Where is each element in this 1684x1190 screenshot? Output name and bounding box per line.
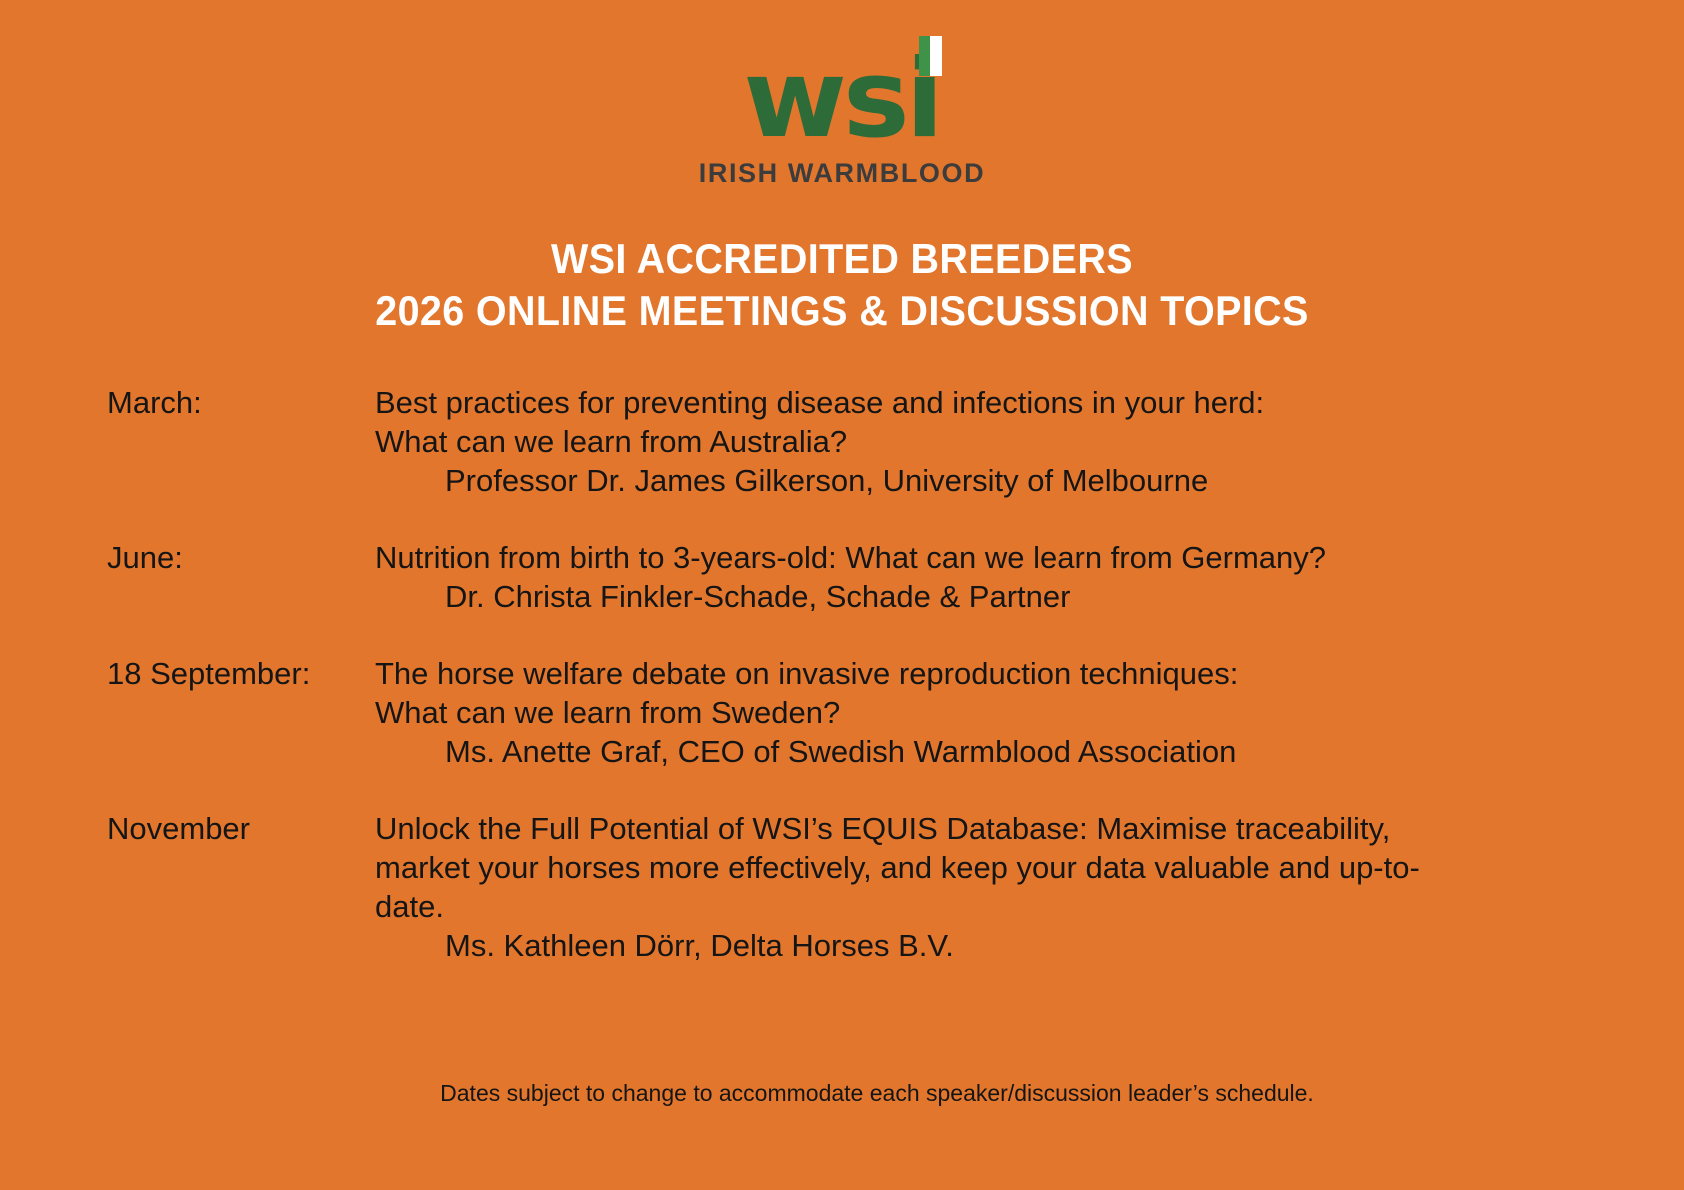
entry-topic-line: Best practices for preventing disease an… (375, 383, 1480, 422)
schedule-entry-june: June: Nutrition from birth to 3-years-ol… (107, 538, 1624, 616)
entry-speaker: Dr. Christa Finkler-Schade, Schade & Par… (375, 577, 1480, 616)
logo-subtitle: IRISH WARMBLOOD (699, 158, 986, 189)
page-title: WSI ACCREDITED BREEDERS 2026 ONLINE MEET… (51, 233, 1634, 337)
irish-tricolour-flag-icon (919, 36, 953, 76)
entry-topic-line: The horse welfare debate on invasive rep… (375, 654, 1480, 693)
entry-topic-line: What can we learn from Sweden? (375, 693, 1480, 732)
flag-stripe-green (919, 36, 930, 76)
entry-body: Unlock the Full Potential of WSI’s EQUIS… (375, 809, 1480, 965)
entry-topic-line: What can we learn from Australia? (375, 422, 1480, 461)
flag-stripe-white (930, 36, 941, 76)
entry-body: Best practices for preventing disease an… (375, 383, 1480, 500)
entry-speaker: Ms. Kathleen Dörr, Delta Horses B.V. (375, 926, 1480, 965)
entry-month-label: June: (107, 538, 375, 577)
entry-month-label: March: (107, 383, 375, 422)
entry-topic-line: Nutrition from birth to 3-years-old: Wha… (375, 538, 1480, 577)
footer-disclaimer: Dates subject to change to accommodate e… (0, 1080, 1684, 1107)
schedule-list: March: Best practices for preventing dis… (0, 383, 1684, 965)
entry-topic-line: Unlock the Full Potential of WSI’s EQUIS… (375, 809, 1480, 926)
entry-speaker: Professor Dr. James Gilkerson, Universit… (375, 461, 1480, 500)
entry-month-label: November (107, 809, 375, 848)
entry-month-label: 18 September: (107, 654, 375, 693)
entry-body: Nutrition from birth to 3-years-old: Wha… (375, 538, 1480, 616)
schedule-entry-september: 18 September: The horse welfare debate o… (107, 654, 1624, 771)
entry-speaker: Ms. Anette Graf, CEO of Swedish Warmbloo… (375, 732, 1480, 771)
page-title-line-2: 2026 ONLINE MEETINGS & DISCUSSION TOPICS (51, 285, 1634, 337)
logo-wordmark: wsi (744, 50, 941, 150)
flag-stripe-orange (942, 36, 953, 76)
page-title-line-1: WSI ACCREDITED BREEDERS (51, 233, 1634, 285)
schedule-entry-march: March: Best practices for preventing dis… (107, 383, 1624, 500)
schedule-entry-november: November Unlock the Full Potential of WS… (107, 809, 1624, 965)
brand-logo: wsi IRISH WARMBLOOD (0, 0, 1684, 189)
logo-mark: wsi (717, 30, 967, 150)
entry-body: The horse welfare debate on invasive rep… (375, 654, 1480, 771)
